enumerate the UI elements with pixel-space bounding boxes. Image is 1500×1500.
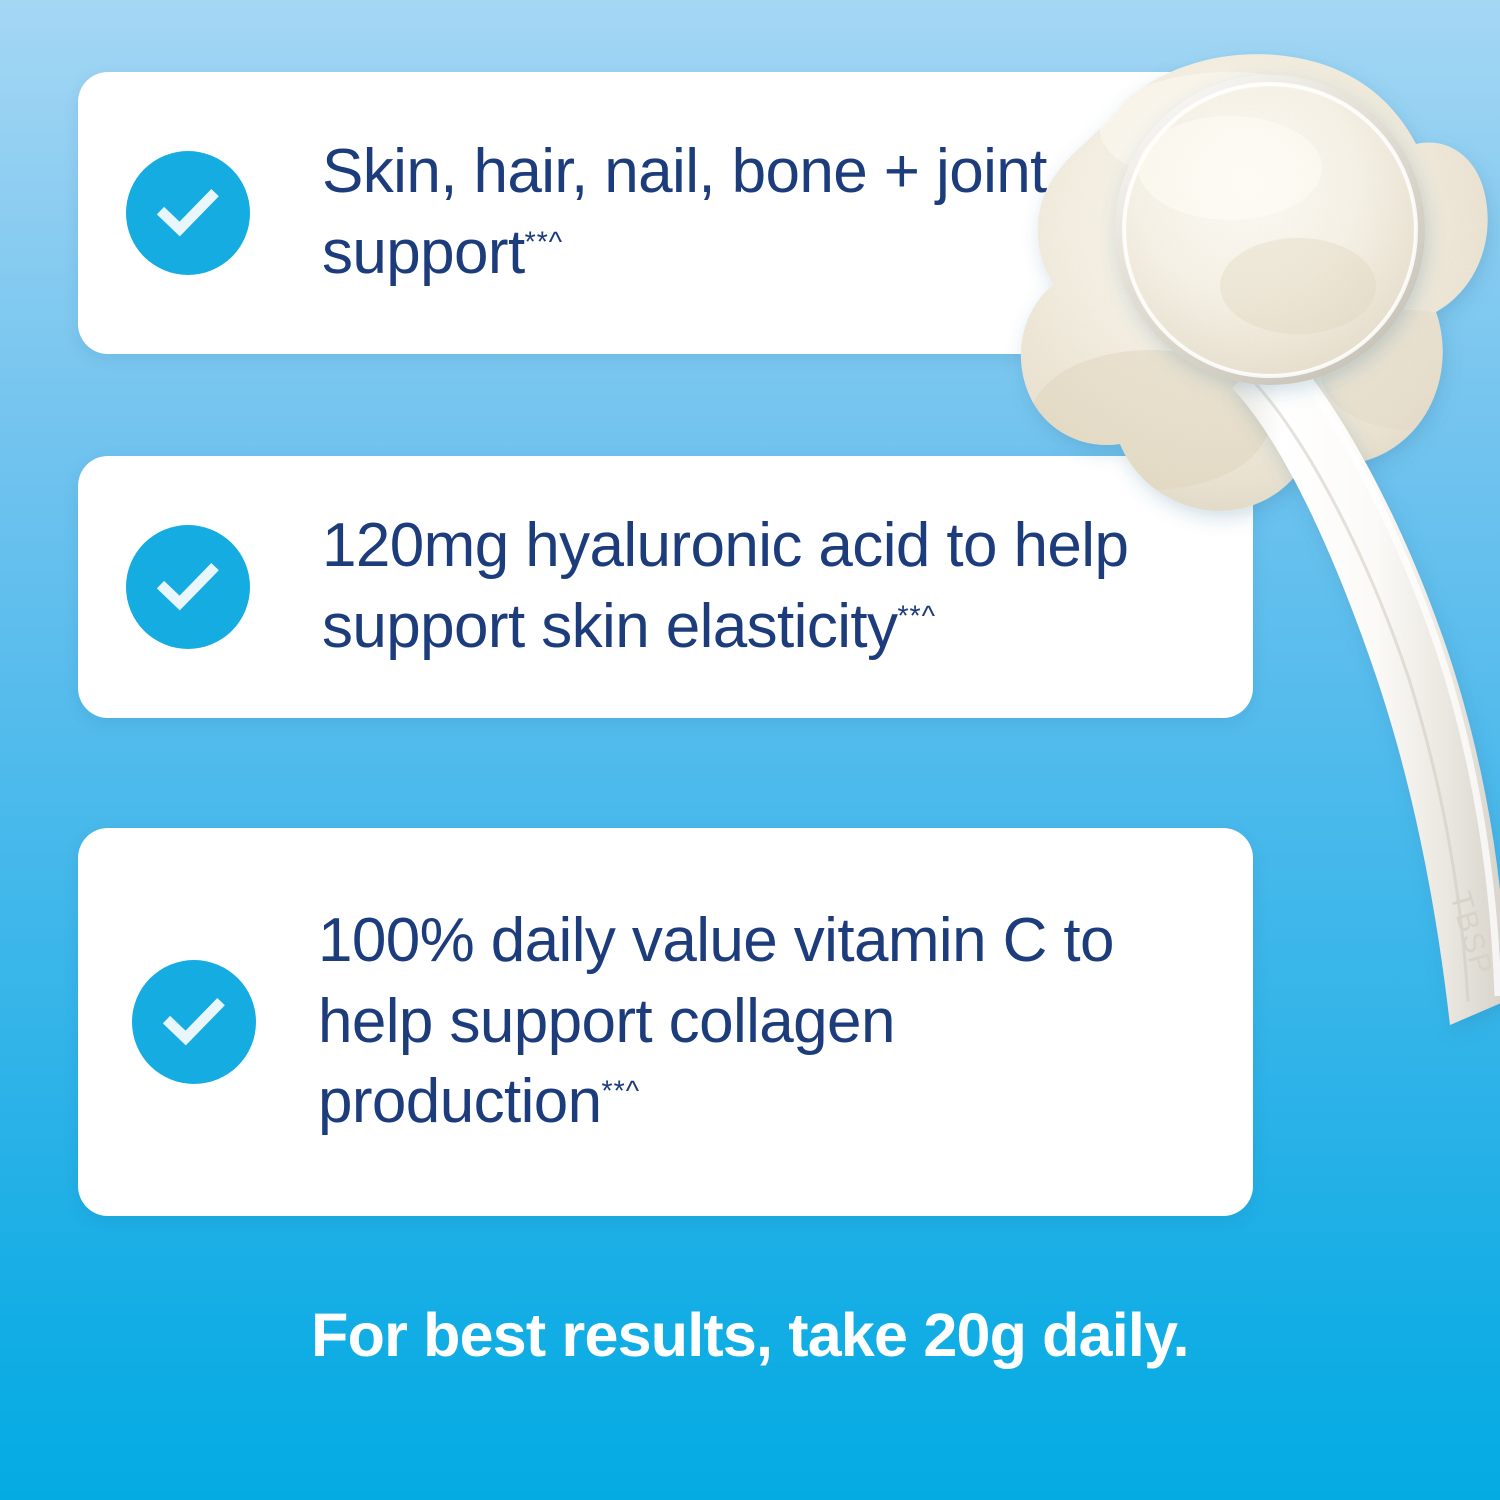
check-circle-icon: [132, 960, 256, 1084]
benefit-text-body: 120mg hyaluronic acid to help support sk…: [322, 511, 1128, 661]
benefit-card: Skin, hair, nail, bone + joint support**…: [78, 72, 1253, 354]
spoon-tbsp-label: TBSP: [1443, 888, 1499, 980]
benefit-text: 120mg hyaluronic acid to help support sk…: [322, 506, 1233, 667]
footnote-marker: **^: [602, 1076, 641, 1108]
benefit-text-body: Skin, hair, nail, bone + joint support: [322, 137, 1047, 287]
usage-instruction: For best results, take 20g daily.: [0, 1300, 1500, 1370]
check-circle-icon: [126, 151, 250, 275]
check-circle-icon: [126, 525, 250, 649]
benefit-card: 120mg hyaluronic acid to help support sk…: [78, 456, 1253, 718]
benefit-text-body: 100% daily value vitamin C to help suppo…: [318, 906, 1114, 1136]
benefit-text: Skin, hair, nail, bone + joint support**…: [322, 132, 1233, 293]
footnote-marker: **^: [525, 226, 564, 258]
footnote-marker: **^: [897, 600, 936, 632]
benefit-text: 100% daily value vitamin C to help suppo…: [318, 901, 1233, 1143]
benefit-card: 100% daily value vitamin C to help suppo…: [78, 828, 1253, 1216]
measuring-spoon-handle: TBSP: [1232, 340, 1500, 1025]
